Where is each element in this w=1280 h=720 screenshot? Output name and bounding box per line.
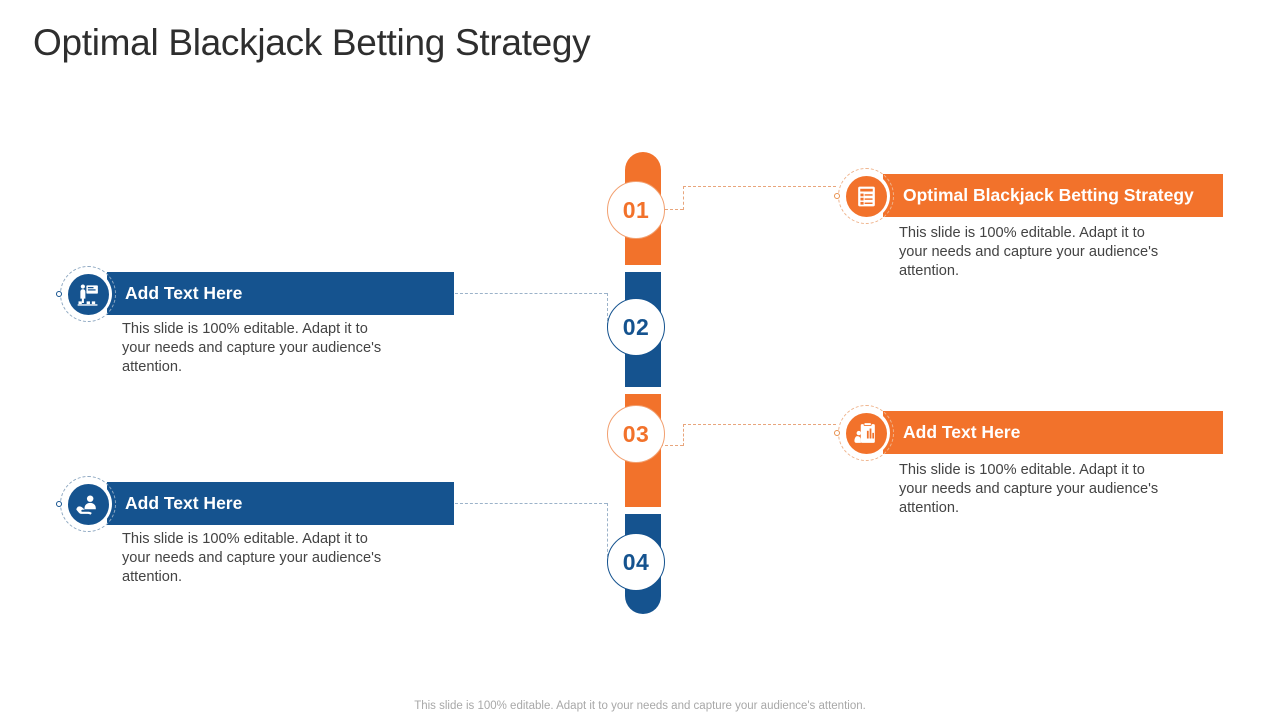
connector-04-horizontal (455, 503, 607, 504)
page-title: Optimal Blackjack Betting Strategy (33, 22, 590, 64)
hand-holding-person-icon (68, 484, 109, 525)
presentation-training-icon (68, 274, 109, 315)
slide-canvas: Optimal Blackjack Betting Strategy 01 02… (0, 0, 1280, 720)
icon-ring (842, 172, 890, 220)
clipboard-report-icon (846, 413, 887, 454)
card-01-icon-medallion[interactable] (838, 168, 894, 224)
card-01-body: This slide is 100% editable. Adapt it to… (899, 224, 1159, 281)
card-02-title-bar[interactable]: Add Text Here (107, 272, 454, 315)
timeline-node-01[interactable]: 01 (607, 181, 665, 239)
connector-03-vertical (683, 424, 684, 446)
connector-01-vertical (683, 186, 684, 210)
connector-02-horizontal (455, 293, 607, 294)
card-03-title: Add Text Here (903, 422, 1020, 443)
card-04-title: Add Text Here (125, 493, 242, 514)
connector-anchor-dot (56, 291, 62, 297)
connector-anchor-dot (834, 193, 840, 199)
card-01-title-bar[interactable]: Optimal Blackjack Betting Strategy (883, 174, 1223, 217)
card-02-title: Add Text Here (125, 283, 242, 304)
card-03-title-bar[interactable]: Add Text Here (883, 411, 1223, 454)
card-04-icon-medallion[interactable] (60, 476, 116, 532)
timeline-node-02[interactable]: 02 (607, 298, 665, 356)
card-01-title: Optimal Blackjack Betting Strategy (903, 185, 1194, 206)
connector-anchor-dot (56, 501, 62, 507)
card-03-body: This slide is 100% editable. Adapt it to… (899, 461, 1159, 518)
connector-01-horizontal (683, 186, 836, 187)
card-04-body: This slide is 100% editable. Adapt it to… (122, 530, 382, 587)
icon-ring (64, 480, 112, 528)
slide-footer-note: This slide is 100% editable. Adapt it to… (0, 700, 1280, 712)
card-04-title-bar[interactable]: Add Text Here (107, 482, 454, 525)
connector-anchor-dot (834, 430, 840, 436)
timeline-node-04[interactable]: 04 (607, 533, 665, 591)
checklist-document-icon (846, 176, 887, 217)
timeline-track: 01 02 03 04 (625, 152, 661, 614)
connector-03-horizontal (683, 424, 836, 425)
icon-ring (64, 270, 112, 318)
card-02-body: This slide is 100% editable. Adapt it to… (122, 320, 382, 377)
icon-ring (842, 409, 890, 457)
timeline-node-03[interactable]: 03 (607, 405, 665, 463)
card-02-icon-medallion[interactable] (60, 266, 116, 322)
card-03-icon-medallion[interactable] (838, 405, 894, 461)
